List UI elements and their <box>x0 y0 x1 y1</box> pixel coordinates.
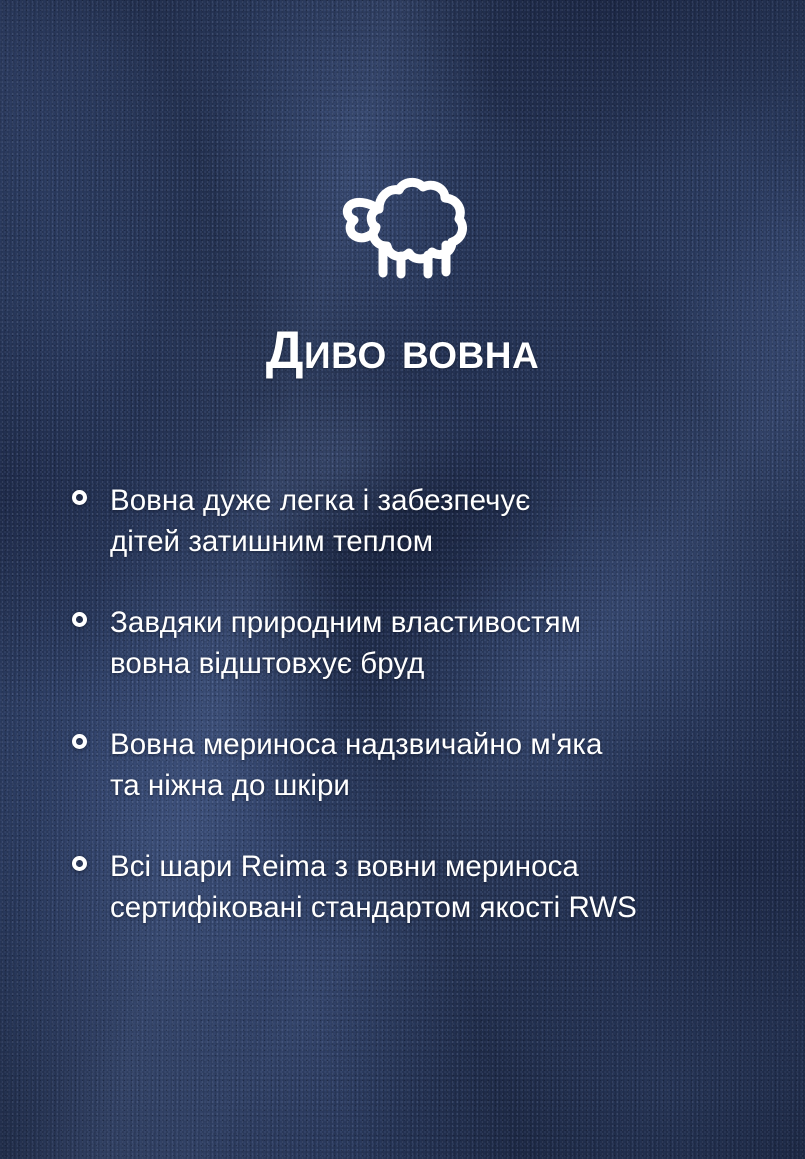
list-item-label: Всі шари Reima з вовни мериноса сертифік… <box>110 846 637 928</box>
ring-bullet-icon <box>72 734 87 749</box>
list-item-label: Завдяки природним властивостям вовна від… <box>110 602 581 684</box>
list-item: Вовна дуже легка і забезпечує дітей зати… <box>72 480 765 562</box>
ring-bullet-icon <box>72 856 87 871</box>
list-item-label: Вовна мериноса надзвичайно м'яка та ніжн… <box>110 724 602 806</box>
list-item-label: Вовна дуже легка і забезпечує дітей зати… <box>110 480 530 562</box>
list-item: Завдяки природним властивостям вовна від… <box>72 602 765 684</box>
list-item: Всі шари Reima з вовни мериноса сертифік… <box>72 846 765 928</box>
benefits-list: Вовна дуже легка і забезпечує дітей зати… <box>72 480 765 968</box>
poster-content: Диво вовна Вовна дуже легка і забезпечує… <box>0 0 805 1159</box>
wool-infographic-poster: Диво вовна Вовна дуже легка і забезпечує… <box>0 0 805 1159</box>
ring-bullet-icon <box>72 612 87 627</box>
sheep-icon <box>335 176 471 280</box>
ring-bullet-icon <box>72 490 87 505</box>
list-item: Вовна мериноса надзвичайно м'яка та ніжн… <box>72 724 765 806</box>
page-title: Диво вовна <box>0 324 805 377</box>
sheep-icon-container <box>0 176 805 280</box>
